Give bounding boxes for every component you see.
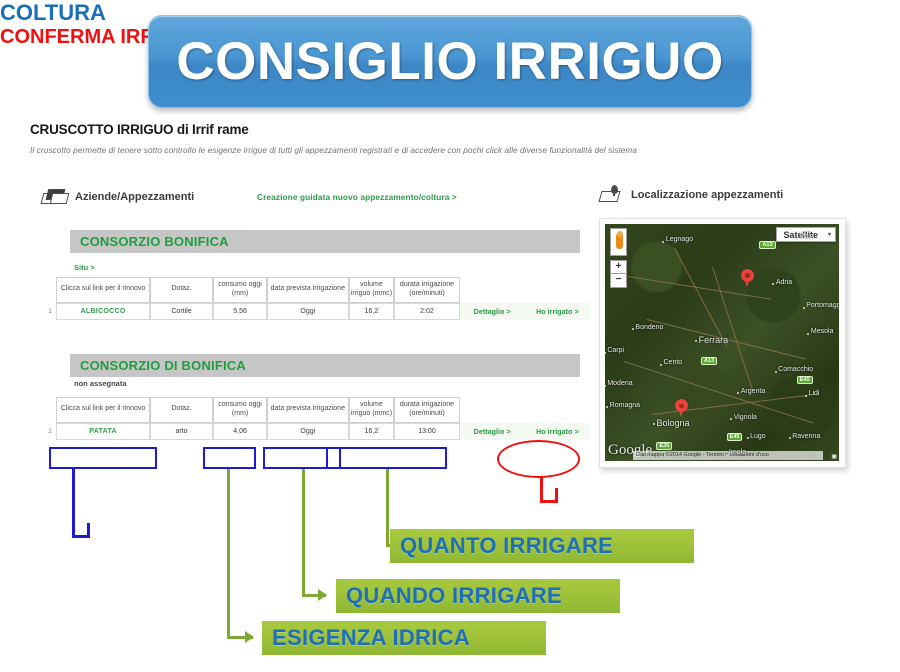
map-place-dot [730,418,732,420]
annotation-box-esigenza [203,447,256,469]
consorzio-note-1[interactable]: Situ > [74,263,95,272]
document-heading: CRUSCOTTO IRRIGUO di Irrif rame [30,122,249,137]
annotation-box-coltura [49,447,157,469]
col-coltura: Clicca sul link per il rinnovo [56,277,150,303]
col-durata: durata irrigazione (ore/minuti) [394,277,459,303]
map-place-dot [660,364,662,366]
map-place-dot [807,333,809,335]
map-road-shield: E35 [656,442,672,450]
map-place-dot [695,340,697,342]
map-place-dot [653,423,655,425]
map-place-dot [605,352,606,354]
map-place-dot [772,283,774,285]
map-place-label: Modena [607,380,632,387]
creazione-guidata-link[interactable]: Creazione guidata nuovo appezzamento/col… [257,192,457,202]
map-attribution: Dati mappa ©2014 Google - Termini e cond… [633,451,823,460]
consorzio-bar-1: CONSORZIO BONIFICA [70,230,580,253]
cell-volume: 16,2 [349,303,395,320]
map-place-label: Ferrara [699,335,729,345]
map-place-dot [789,437,791,439]
map-canvas[interactable]: + − Satellite ▾ Google Dati mappa ©2014 … [605,224,839,461]
cell-consumo: 4,06 [213,423,267,440]
document-subheading: Il cruscotto permette di tenere sotto co… [30,146,860,155]
ho-irrigato-link[interactable]: Ho irrigato > [525,423,590,440]
pegman-streetview-icon[interactable] [610,228,627,256]
ho-irrigato-link[interactable]: Ho irrigato > [525,303,590,320]
cell-coltura[interactable]: ALBICOCCO [56,303,150,320]
col-durata: durata irrigazione (ore/minuti) [394,397,459,423]
map-zoom-control[interactable]: + − [610,260,627,288]
cards-icon [42,188,68,206]
callout-quanto-irrigare: QUANTO IRRIGARE [390,529,694,563]
annotation-box-quanto [326,447,447,469]
map-place-dot [726,454,728,456]
cell-coltura[interactable]: PATATA [56,423,150,440]
section-label-aziende: Aziende/Appezzamenti [75,191,194,203]
table-header-row: Clicca sul link per il rinnovo Dotaz. co… [44,397,590,423]
map-place-label: Mesola [811,328,834,335]
col-consumo: consumo oggi (mm) [213,277,267,303]
map-place-label: Ravenna [792,433,820,440]
map-road-shield: E45 [727,433,743,441]
leader-line [302,469,305,597]
cell-durata: 2:02 [394,303,459,320]
leader-line [72,469,75,538]
col-dotazione: Dotaz. [150,277,213,303]
cell-dotazione: arto [150,423,213,440]
dettaglio-link[interactable]: Dettaglio > [460,303,525,320]
dettaglio-link[interactable]: Dettaglio > [460,423,525,440]
leader-line [227,469,230,639]
callout-label: QUANDO IRRIGARE [346,583,562,609]
annotation-ellipse-conferma [497,440,580,478]
cell-volume: 16,2 [349,423,395,440]
map-place-label: Lidi [809,390,820,397]
col-dotazione: Dotaz. [150,397,213,423]
map-place-label: Bologna [656,418,689,428]
page-title: CONSIGLIO IRRIGUO [176,31,723,92]
col-data: data prevista irrigazione [267,397,348,423]
map-widget[interactable]: + − Satellite ▾ Google Dati mappa ©2014 … [599,218,846,468]
zoom-out-button[interactable]: − [610,274,627,288]
map-place-dot [805,395,807,397]
leader-line [555,488,558,503]
table-row: 1 ALBICOCCO Cortile 5,56 Oggi 16,2 2:02 … [44,303,590,320]
map-place-label: Imola [729,449,746,456]
page-title-banner: CONSIGLIO IRRIGUO [148,15,752,108]
map-place-label: Bondeno [635,324,663,331]
cell-data: Oggi [267,423,348,440]
callout-quando-irrigare: QUANDO IRRIGARE [336,579,620,613]
cell-consumo: 5,56 [213,303,267,320]
irrigation-table-2: Clicca sul link per il rinnovo Dotaz. co… [44,397,590,440]
map-place-label: Comacchio [778,366,813,373]
map-place-dot [803,307,805,309]
arrow-head-icon [245,631,254,643]
cell-dotazione: Cortile [150,303,213,320]
leader-line [386,469,389,547]
map-place-dot [632,328,634,330]
cell-durata: 13:00 [394,423,459,440]
map-place-dot [775,371,777,373]
section-header-localizzazione: Localizzazione appezzamenti [600,185,783,205]
map-place-label: Argenta [741,388,766,395]
row-number: 2 [44,423,56,440]
col-data: data prevista irrigazione [267,277,348,303]
map-place-dot [747,437,749,439]
zoom-in-button[interactable]: + [610,260,627,274]
row-number: 1 [44,303,56,320]
map-road-shield: E45 [797,376,813,384]
map-place-label: Masi [799,233,814,240]
map-place-label: Carpi [607,347,624,354]
callout-esigenza-idrica: ESIGENZA IDRICA [262,621,546,655]
table-row: 2 PATATA arto 4,06 Oggi 16,2 13:00 Detta… [44,423,590,440]
map-corner-icon: ▣ [831,453,837,460]
consorzio-name-1: CONSORZIO BONIFICA [80,234,229,249]
col-volume: volume irriguo (mmc) [349,277,395,303]
consorzio-bar-2: CONSORZIO DI BONIFICA [70,354,580,377]
section-header-aziende: Aziende/Appezzamenti [42,188,194,206]
leader-line [87,523,90,538]
map-place-label: Romagna [610,402,640,409]
table-header-row: Clicca sul link per il rinnovo Dotaz. co… [44,277,590,303]
map-place-label: Legnago [666,236,693,243]
callout-label: ESIGENZA IDRICA [272,625,470,651]
col-volume: volume irriguo (mmc) [349,397,395,423]
map-road-shield: A13 [701,357,717,365]
map-place-dot [606,406,608,408]
map-pin-icon [600,185,624,205]
map-marker-pin[interactable] [675,399,688,418]
callout-label: QUANTO IRRIGARE [400,533,613,559]
map-place-label: Lugo [750,433,766,440]
map-place-label: Adria [776,279,792,286]
map-place-label: Cento [664,359,683,366]
map-place-dot [737,392,739,394]
map-place-dot [796,238,798,240]
chevron-down-icon: ▾ [828,231,831,238]
cell-data: Oggi [267,303,348,320]
consorzio-note-2: non assegnata [74,379,127,388]
map-place-dot [662,241,664,243]
map-place-label: Portomaggiore [806,302,839,309]
consorzio-name-2: CONSORZIO DI BONIFICA [80,358,246,373]
map-marker-pin[interactable] [741,269,754,288]
col-consumo: consumo oggi (mm) [213,397,267,423]
arrow-head-icon [318,589,327,601]
map-road-shield: A13 [759,241,775,249]
col-coltura: Clicca sul link per il rinnovo [56,397,150,423]
irrigation-table-1: Clicca sul link per il rinnovo Dotaz. co… [44,277,590,320]
map-place-label: Vignola [734,414,757,421]
section-label-localizzazione: Localizzazione appezzamenti [631,189,783,201]
map-place-dot [605,385,606,387]
